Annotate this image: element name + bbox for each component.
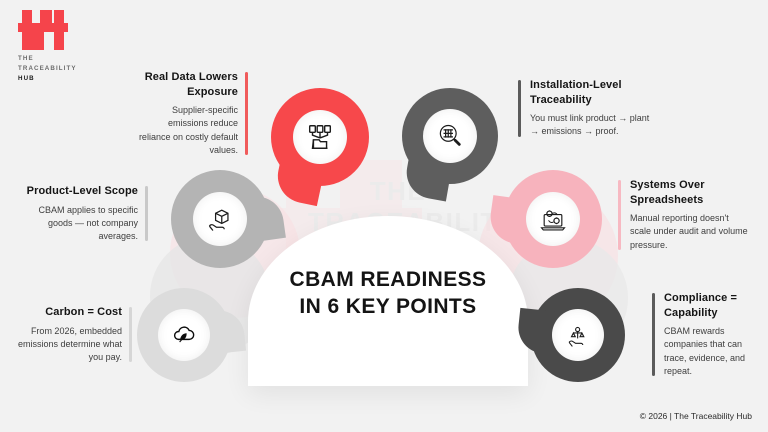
pin-icon-disc <box>158 309 210 361</box>
pin-product-level-scope[interactable] <box>171 170 269 268</box>
hand-scales-icon <box>564 321 593 350</box>
text-block-compliance-equals-capability: Compliance = Capability CBAM rewards com… <box>652 291 756 378</box>
point-heading: Carbon = Cost <box>8 305 122 320</box>
accent-bar <box>129 307 132 362</box>
point-heading: Real Data Lowers Exposure <box>138 70 238 99</box>
pin-installation-level[interactable] <box>402 88 498 184</box>
point-heading: Compliance = Capability <box>664 291 756 320</box>
accent-bar <box>618 180 621 250</box>
point-heading: Installation-Level Traceability <box>530 78 658 107</box>
center-title: CBAM READINESS IN 6 KEY POINTS <box>248 267 528 321</box>
pin-real-data[interactable] <box>271 88 369 186</box>
text-block-real-data: Real Data Lowers Exposure Supplier-speci… <box>138 70 248 157</box>
magnifier-grid-icon <box>436 122 464 150</box>
point-heading: Product-Level Scope <box>20 184 138 199</box>
accent-bar <box>652 293 655 376</box>
text-block-systems-over-spreadsheets: Systems Over Spreadsheets Manual reporti… <box>618 178 750 252</box>
accent-bar <box>518 80 521 137</box>
pin-icon-disc <box>423 109 477 163</box>
pin-icon-disc <box>193 192 247 246</box>
cloud-leaf-icon <box>170 321 198 349</box>
point-body: Supplier-specific emissions reduce relia… <box>138 104 238 157</box>
point-body: You must link product → plant → emission… <box>530 112 658 139</box>
pin-icon-disc <box>552 309 604 361</box>
pin-carbon-equals-cost[interactable] <box>137 288 231 382</box>
hand-box-icon <box>205 204 235 234</box>
logo-mark-icon <box>18 10 72 50</box>
laptop-gears-icon <box>538 204 568 234</box>
center-title-line-2: IN 6 KEY POINTS <box>248 294 528 321</box>
point-heading: Systems Over Spreadsheets <box>630 178 750 207</box>
logo-wordmark: THE TRACEABILITY HUB <box>18 54 77 85</box>
point-body: CBAM rewards companies that can trace, e… <box>664 325 756 378</box>
point-body: From 2026, embedded emissions determine … <box>8 325 122 365</box>
footer-copyright: © 2026 | The Traceability Hub <box>640 411 752 421</box>
logo-wordmark-line-2: TRACEABILITY <box>18 64 77 74</box>
accent-bar <box>245 72 248 155</box>
pin-compliance-equals-capability[interactable] <box>531 288 625 382</box>
text-block-product-level-scope: Product-Level Scope CBAM applies to spec… <box>20 184 148 243</box>
logo-wordmark-line-3: HUB <box>18 74 77 84</box>
text-block-installation-level: Installation-Level Traceability You must… <box>518 78 658 139</box>
pin-icon-disc <box>526 192 580 246</box>
center-title-line-1: CBAM READINESS <box>248 267 528 294</box>
point-body: Manual reporting doesn't scale under aud… <box>630 212 750 252</box>
point-body: CBAM applies to specific goods — not com… <box>20 204 138 244</box>
logo-wordmark-line-1: THE <box>18 54 77 64</box>
text-block-carbon-equals-cost: Carbon = Cost From 2026, embedded emissi… <box>8 305 132 364</box>
pin-systems-over-spreadsheets[interactable] <box>504 170 602 268</box>
infographic-canvas: THE TRACEABILITY HUB CBAM READINESS IN 6… <box>0 0 768 432</box>
data-to-folder-icon <box>305 122 335 152</box>
pin-icon-disc <box>293 110 347 164</box>
accent-bar <box>145 186 148 241</box>
